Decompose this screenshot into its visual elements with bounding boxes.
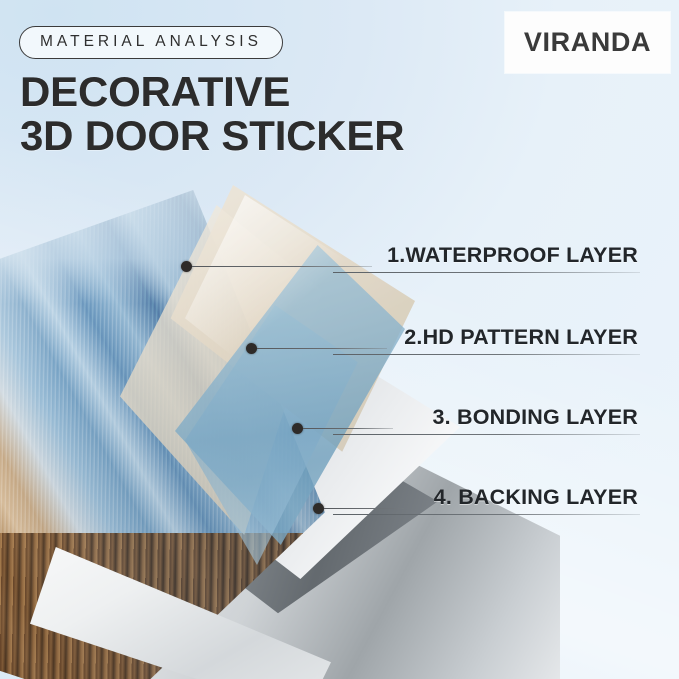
brand-logo: VIRANDA [505, 12, 670, 73]
callout-label-backing: 4. BACKING LAYER [238, 485, 638, 510]
brand-logo-text: VIRANDA [524, 27, 651, 58]
callout-label-hd-pattern: 2.HD PATTERN LAYER [238, 325, 638, 350]
page-title: DECORATIVE 3D DOOR STICKER [20, 70, 404, 157]
callout-rule-waterproof [333, 272, 640, 273]
callout-dot-waterproof [181, 261, 192, 272]
callout-rule-backing [333, 514, 640, 515]
callout-rule-hd-pattern [333, 354, 640, 355]
material-analysis-badge: MATERIAL ANALYSIS [19, 26, 283, 59]
page-title-line-2: 3D DOOR STICKER [20, 114, 404, 158]
callout-rule-bonding [333, 434, 640, 435]
poster-canvas: MATERIAL ANALYSIS DECORATIVE 3D DOOR STI… [0, 0, 679, 679]
callout-label-waterproof: 1.WATERPROOF LAYER [238, 243, 638, 268]
page-title-line-1: DECORATIVE [20, 70, 404, 114]
callout-label-bonding: 3. BONDING LAYER [238, 405, 638, 430]
